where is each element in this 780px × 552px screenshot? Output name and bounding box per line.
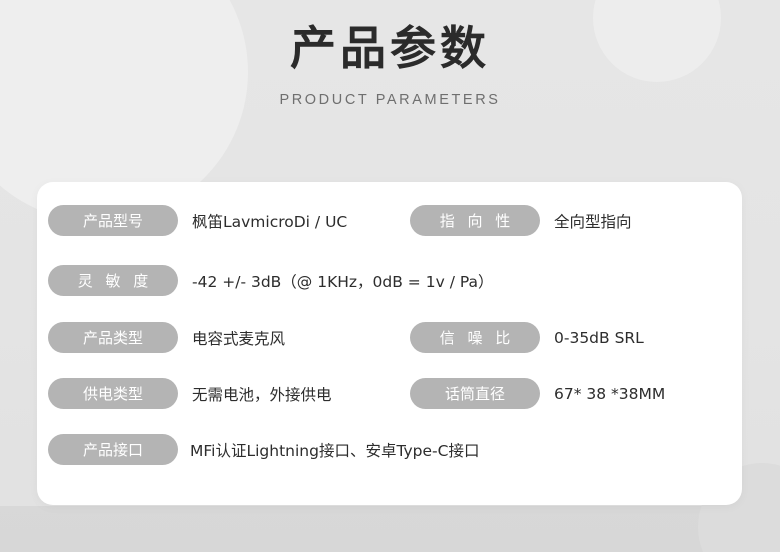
spec-label-product-type: 产品类型 bbox=[48, 322, 178, 353]
page-subtitle: PRODUCT PARAMETERS bbox=[0, 78, 780, 108]
product-parameters-page: 产品参数 PRODUCT PARAMETERS 产品型号 枫笛LavmicroD… bbox=[0, 0, 780, 552]
spec-cell-power-type: 供电类型 无需电池，外接供电 bbox=[48, 378, 332, 409]
spec-cell-connector: 产品接口 MFi认证Lightning接口、安卓Type-C接口 bbox=[48, 434, 479, 465]
spec-label-polar-pattern: 指 向 性 bbox=[410, 205, 540, 236]
decorative-bottom-band bbox=[0, 506, 780, 552]
table-row: 产品类型 电容式麦克风 信 噪 比 0-35dB SRL bbox=[37, 322, 742, 353]
spec-value-sensitivity: -42 +/- 3dB（@ 1KHz，0dB = 1v / Pa） bbox=[192, 270, 494, 292]
spec-label-mic-diameter: 话筒直径 bbox=[410, 378, 540, 409]
table-row: 灵 敏 度 -42 +/- 3dB（@ 1KHz，0dB = 1v / Pa） bbox=[37, 265, 742, 296]
spec-cell-polar-pattern: 指 向 性 全向型指向 bbox=[410, 205, 632, 236]
table-row: 产品型号 枫笛LavmicroDi / UC 指 向 性 全向型指向 bbox=[37, 205, 742, 236]
spec-table-card: 产品型号 枫笛LavmicroDi / UC 指 向 性 全向型指向 灵 敏 度… bbox=[37, 182, 742, 505]
spec-cell-product-type: 产品类型 电容式麦克风 bbox=[48, 322, 285, 353]
spec-value-product-type: 电容式麦克风 bbox=[192, 327, 285, 349]
spec-cell-sensitivity: 灵 敏 度 -42 +/- 3dB（@ 1KHz，0dB = 1v / Pa） bbox=[48, 265, 494, 296]
page-title: 产品参数 bbox=[0, 0, 780, 78]
spec-value-polar-pattern: 全向型指向 bbox=[554, 210, 632, 232]
spec-value-power-type: 无需电池，外接供电 bbox=[192, 383, 332, 405]
spec-label-signal-noise-ratio: 信 噪 比 bbox=[410, 322, 540, 353]
page-header: 产品参数 PRODUCT PARAMETERS bbox=[0, 0, 780, 108]
spec-cell-mic-diameter: 话筒直径 67* 38 *38MM bbox=[410, 378, 665, 409]
spec-cell-product-model: 产品型号 枫笛LavmicroDi / UC bbox=[48, 205, 347, 236]
table-row: 产品接口 MFi认证Lightning接口、安卓Type-C接口 bbox=[37, 434, 742, 465]
spec-value-signal-noise-ratio: 0-35dB SRL bbox=[554, 329, 644, 347]
spec-label-power-type: 供电类型 bbox=[48, 378, 178, 409]
table-row: 供电类型 无需电池，外接供电 话筒直径 67* 38 *38MM bbox=[37, 378, 742, 409]
spec-value-mic-diameter: 67* 38 *38MM bbox=[554, 385, 665, 403]
spec-label-product-model: 产品型号 bbox=[48, 205, 178, 236]
spec-cell-signal-noise-ratio: 信 噪 比 0-35dB SRL bbox=[410, 322, 644, 353]
spec-label-sensitivity: 灵 敏 度 bbox=[48, 265, 178, 296]
spec-value-product-model: 枫笛LavmicroDi / UC bbox=[192, 210, 347, 232]
spec-label-connector: 产品接口 bbox=[48, 434, 178, 465]
spec-value-connector: MFi认证Lightning接口、安卓Type-C接口 bbox=[190, 439, 479, 461]
